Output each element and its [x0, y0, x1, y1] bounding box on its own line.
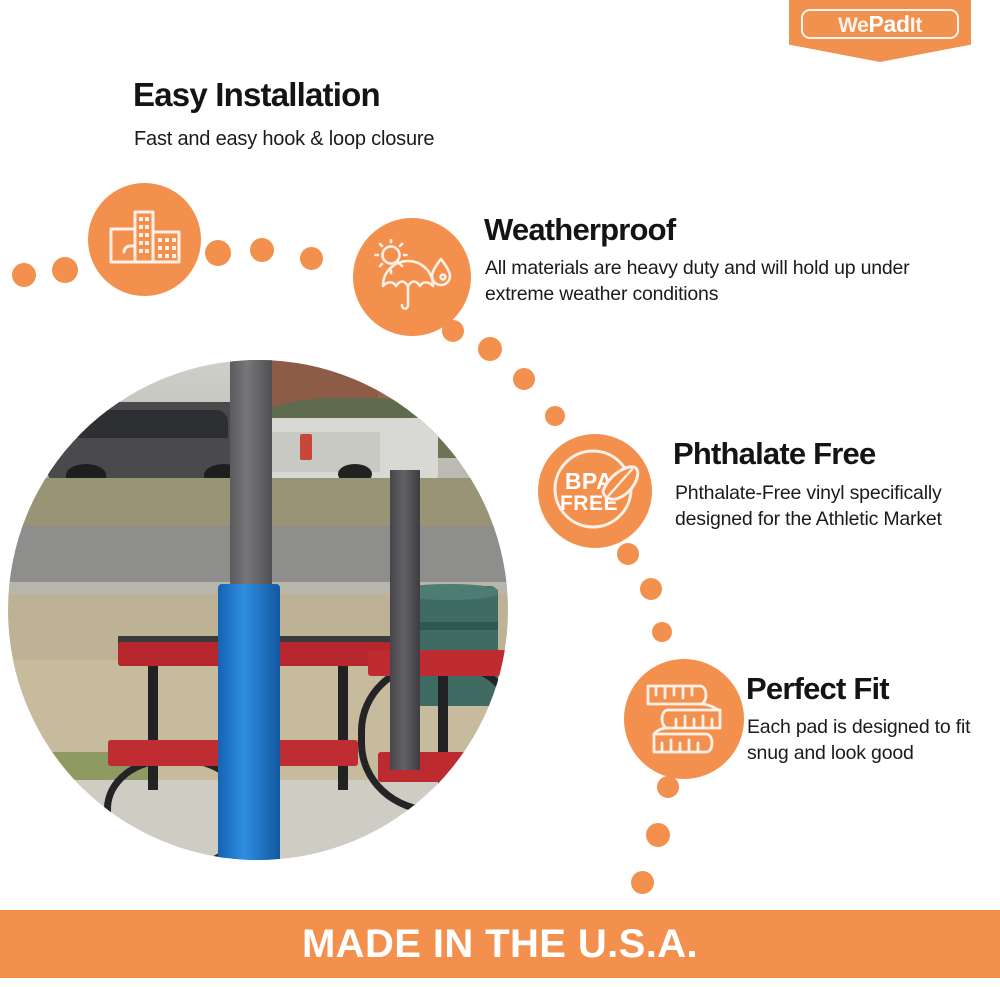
- photo-suv-window: [78, 410, 228, 438]
- product-photo: [8, 360, 508, 860]
- feature-icon-perfect-fit: [624, 659, 744, 779]
- made-in-usa-banner: MADE IN THE U.S.A.: [0, 910, 1000, 978]
- feature-icon-weatherproof: [353, 218, 471, 336]
- logo-word-we: We: [838, 14, 869, 37]
- brand-logo-text: WePadIt: [838, 13, 922, 36]
- sun-umbrella-raindrop-icon: [371, 239, 453, 315]
- feature-title-perfect-fit: Perfect Fit: [746, 673, 889, 706]
- feature-title-phthalate-free: Phthalate Free: [673, 438, 875, 471]
- feature-description-phthalate-free: Phthalate-Free vinyl specifically design…: [675, 481, 945, 532]
- photo-table-top: [368, 650, 508, 676]
- trail-dot: [657, 776, 679, 798]
- trail-dot: [205, 240, 231, 266]
- brand-logo-badge: WePadIt: [789, 0, 971, 62]
- feature-icon-phthalate-free: BPA FREE: [538, 434, 652, 548]
- feature-description-easy-installation: Fast and easy hook & loop closure: [134, 126, 434, 152]
- feature-icon-easy-installation: [88, 183, 201, 296]
- photo-secondary-post: [390, 470, 420, 770]
- trail-dot: [631, 871, 654, 894]
- trail-dot: [652, 622, 672, 642]
- logo-word-it: It: [910, 14, 922, 37]
- photo-taillight: [300, 434, 312, 460]
- feature-title-easy-installation: Easy Installation: [133, 78, 380, 113]
- trail-dot: [640, 578, 662, 600]
- trail-dot: [52, 257, 78, 283]
- photo-blue-pole-pad: [218, 584, 280, 860]
- brand-logo-frame: WePadIt: [801, 9, 959, 39]
- trail-dot: [478, 337, 502, 361]
- trail-dot: [513, 368, 535, 390]
- feature-description-perfect-fit: Each pad is designed to fit snug and loo…: [747, 715, 982, 766]
- logo-word-pad: Pad: [869, 11, 910, 37]
- made-in-usa-text: MADE IN THE U.S.A.: [302, 922, 698, 967]
- feature-title-weatherproof: Weatherproof: [484, 214, 675, 247]
- photo-table-leg: [338, 660, 348, 790]
- trail-dot: [300, 247, 323, 270]
- building-installation-icon: [108, 207, 182, 273]
- trail-dot: [617, 543, 639, 565]
- trail-dot: [545, 406, 565, 426]
- measuring-tape-icon: [638, 673, 730, 765]
- trail-dot: [250, 238, 274, 262]
- bpa-free-leaf-icon: BPA FREE: [543, 439, 647, 543]
- trail-dot: [12, 263, 36, 287]
- trail-dot: [646, 823, 670, 847]
- feature-description-weatherproof: All materials are heavy duty and will ho…: [485, 256, 915, 307]
- product-infographic: WePadIt Easy Installation Fast and easy …: [0, 0, 1000, 987]
- photo-table-frame: [358, 660, 508, 814]
